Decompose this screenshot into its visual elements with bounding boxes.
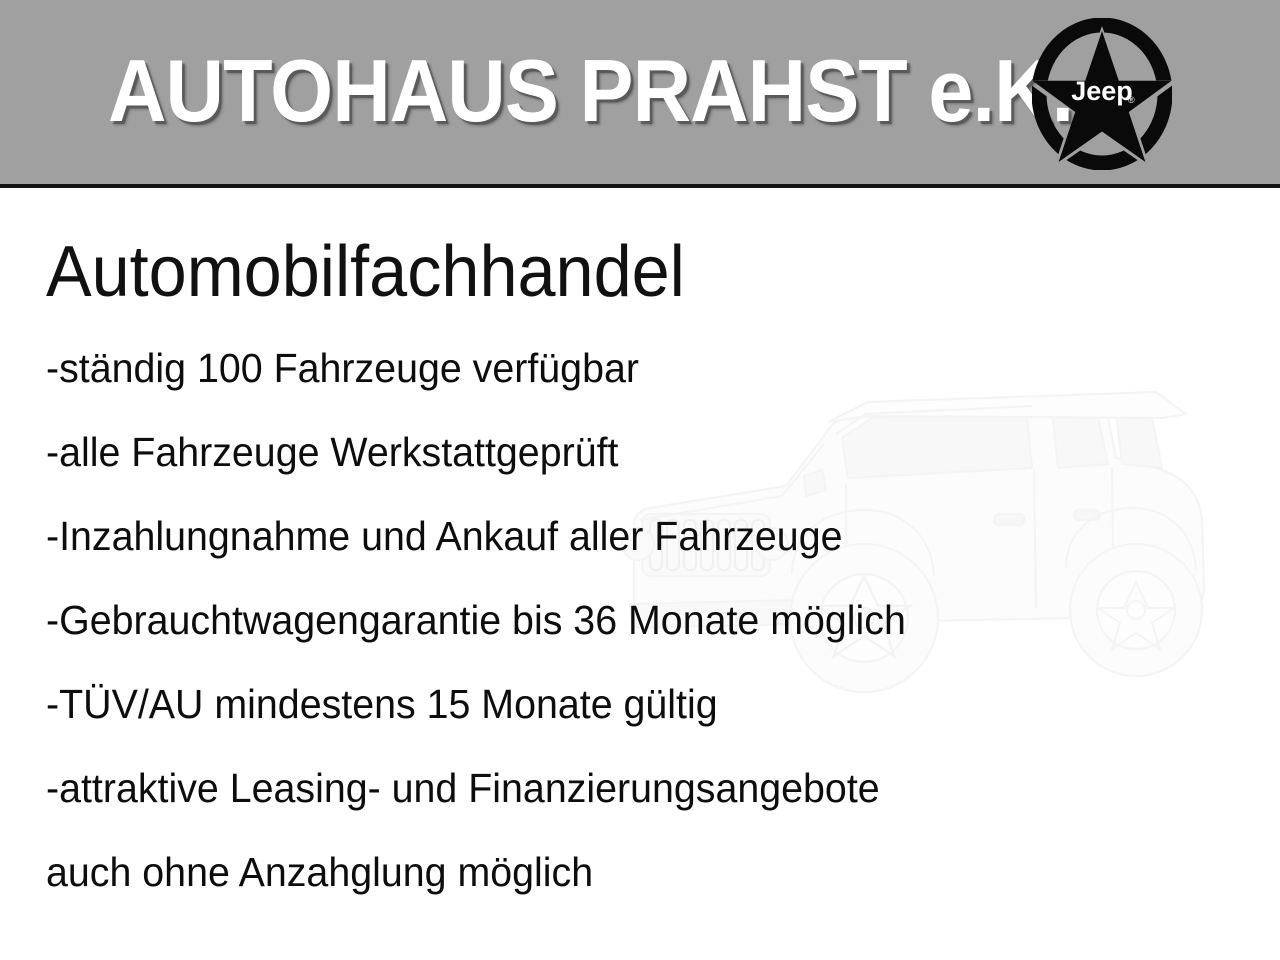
content-area: Automobilfachhandel -ständig 100 Fahrzeu… [0, 188, 1280, 960]
list-item: -alle Fahrzeuge Werkstattgeprüft [46, 432, 1006, 516]
jeep-star-logo: Jeep ® [1032, 18, 1172, 170]
jeep-wordmark: Jeep [1071, 76, 1133, 106]
header-band: AUTOHAUS PRAHST e.K. [0, 0, 1280, 188]
list-item: -TÜV/AU mindestens 15 Monate gültig [46, 684, 1006, 768]
list-item: -ständig 100 Fahrzeuge verfügbar [46, 348, 1006, 432]
feature-list: -ständig 100 Fahrzeuge verfügbar -alle F… [46, 348, 1046, 936]
page-title: AUTOHAUS PRAHST e.K. [108, 47, 1073, 135]
section-heading: Automobilfachhandel [46, 236, 685, 308]
list-item: -Inzahlungnahme und Ankauf aller Fahrzeu… [46, 516, 1006, 600]
advert-page: AUTOHAUS PRAHST e.K. [0, 0, 1280, 960]
svg-text:®: ® [1128, 95, 1135, 105]
list-item: auch ohne Anzahglung möglich [46, 852, 1006, 936]
list-item: -Gebrauchtwagengarantie bis 36 Monate mö… [46, 600, 1006, 684]
list-item: -attraktive Leasing- und Finanzierungsan… [46, 768, 1006, 852]
